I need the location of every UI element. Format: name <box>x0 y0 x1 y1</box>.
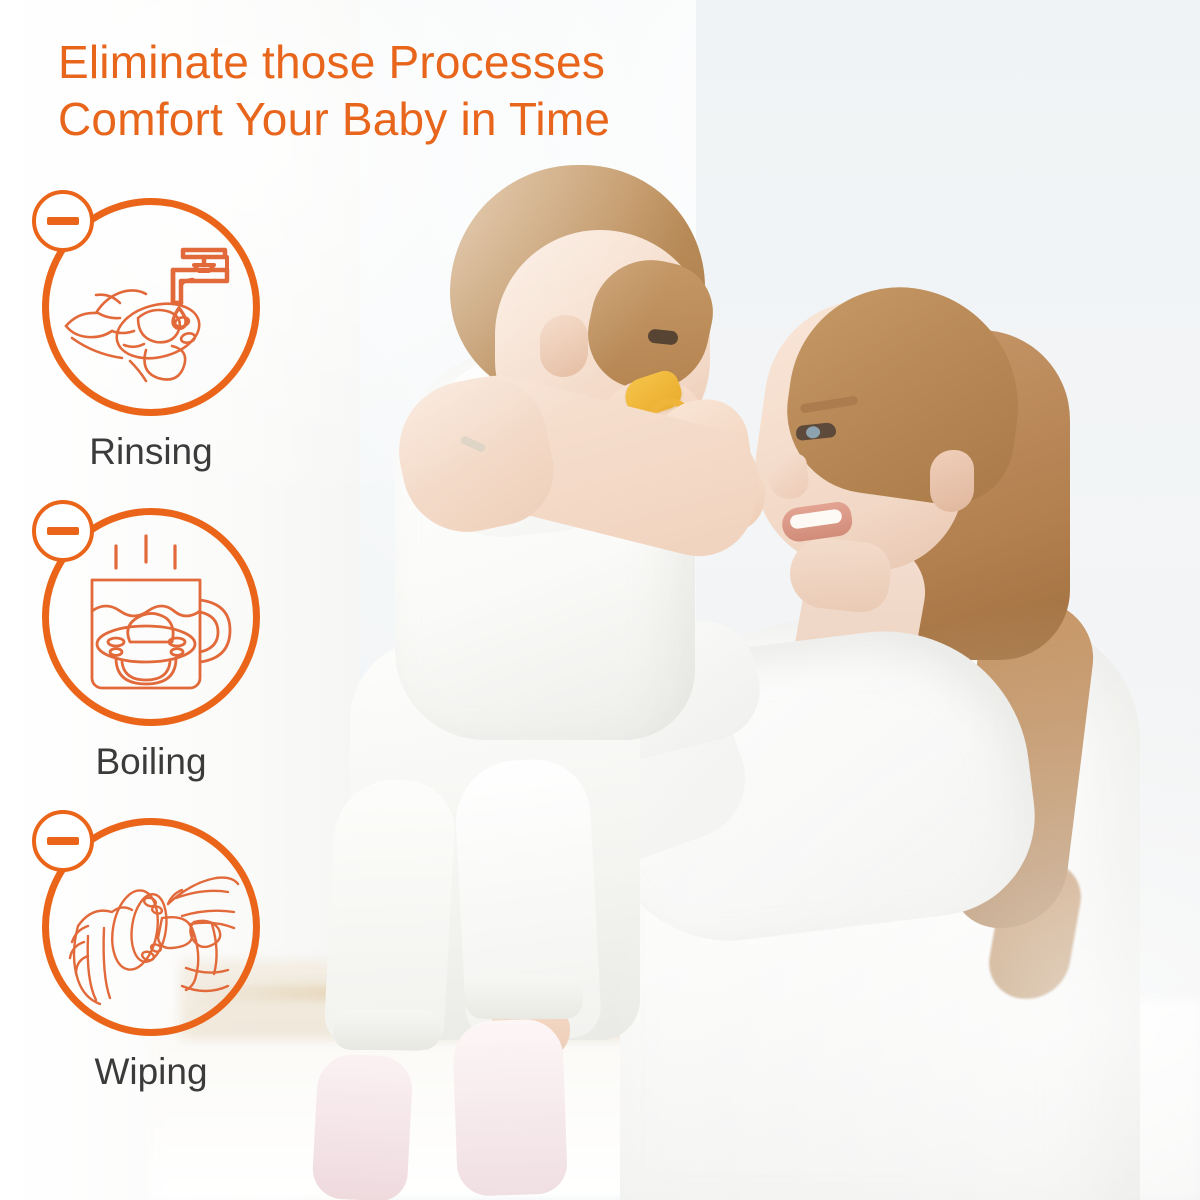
minus-badge-boiling <box>32 500 94 562</box>
feature-rinsing: Rinsing <box>42 198 292 474</box>
baby-sock-right <box>452 1018 568 1197</box>
feature-wiping-circle <box>42 818 260 1036</box>
feature-wiping: Wiping <box>42 818 292 1094</box>
feature-boiling-circle <box>42 508 260 726</box>
baby-cuff-left <box>333 1010 441 1050</box>
feature-rinsing-label: Rinsing <box>42 430 260 474</box>
minus-badge-wiping <box>32 810 94 872</box>
feature-wiping-label: Wiping <box>42 1050 260 1094</box>
minus-badge-rinsing <box>32 190 94 252</box>
minus-icon <box>47 527 79 535</box>
feature-boiling: Boiling <box>42 508 292 784</box>
promo-image: Eliminate those Processes Comfort Your B… <box>0 0 1200 1200</box>
baby-cuff-right <box>465 975 583 1019</box>
page-title: Eliminate those Processes Comfort Your B… <box>58 34 758 148</box>
feature-rinsing-circle <box>42 198 260 416</box>
feature-boiling-label: Boiling <box>42 740 260 784</box>
baby-ear <box>540 315 588 377</box>
minus-icon <box>47 837 79 845</box>
minus-icon <box>47 217 79 225</box>
baby-sock-left <box>311 1053 413 1200</box>
